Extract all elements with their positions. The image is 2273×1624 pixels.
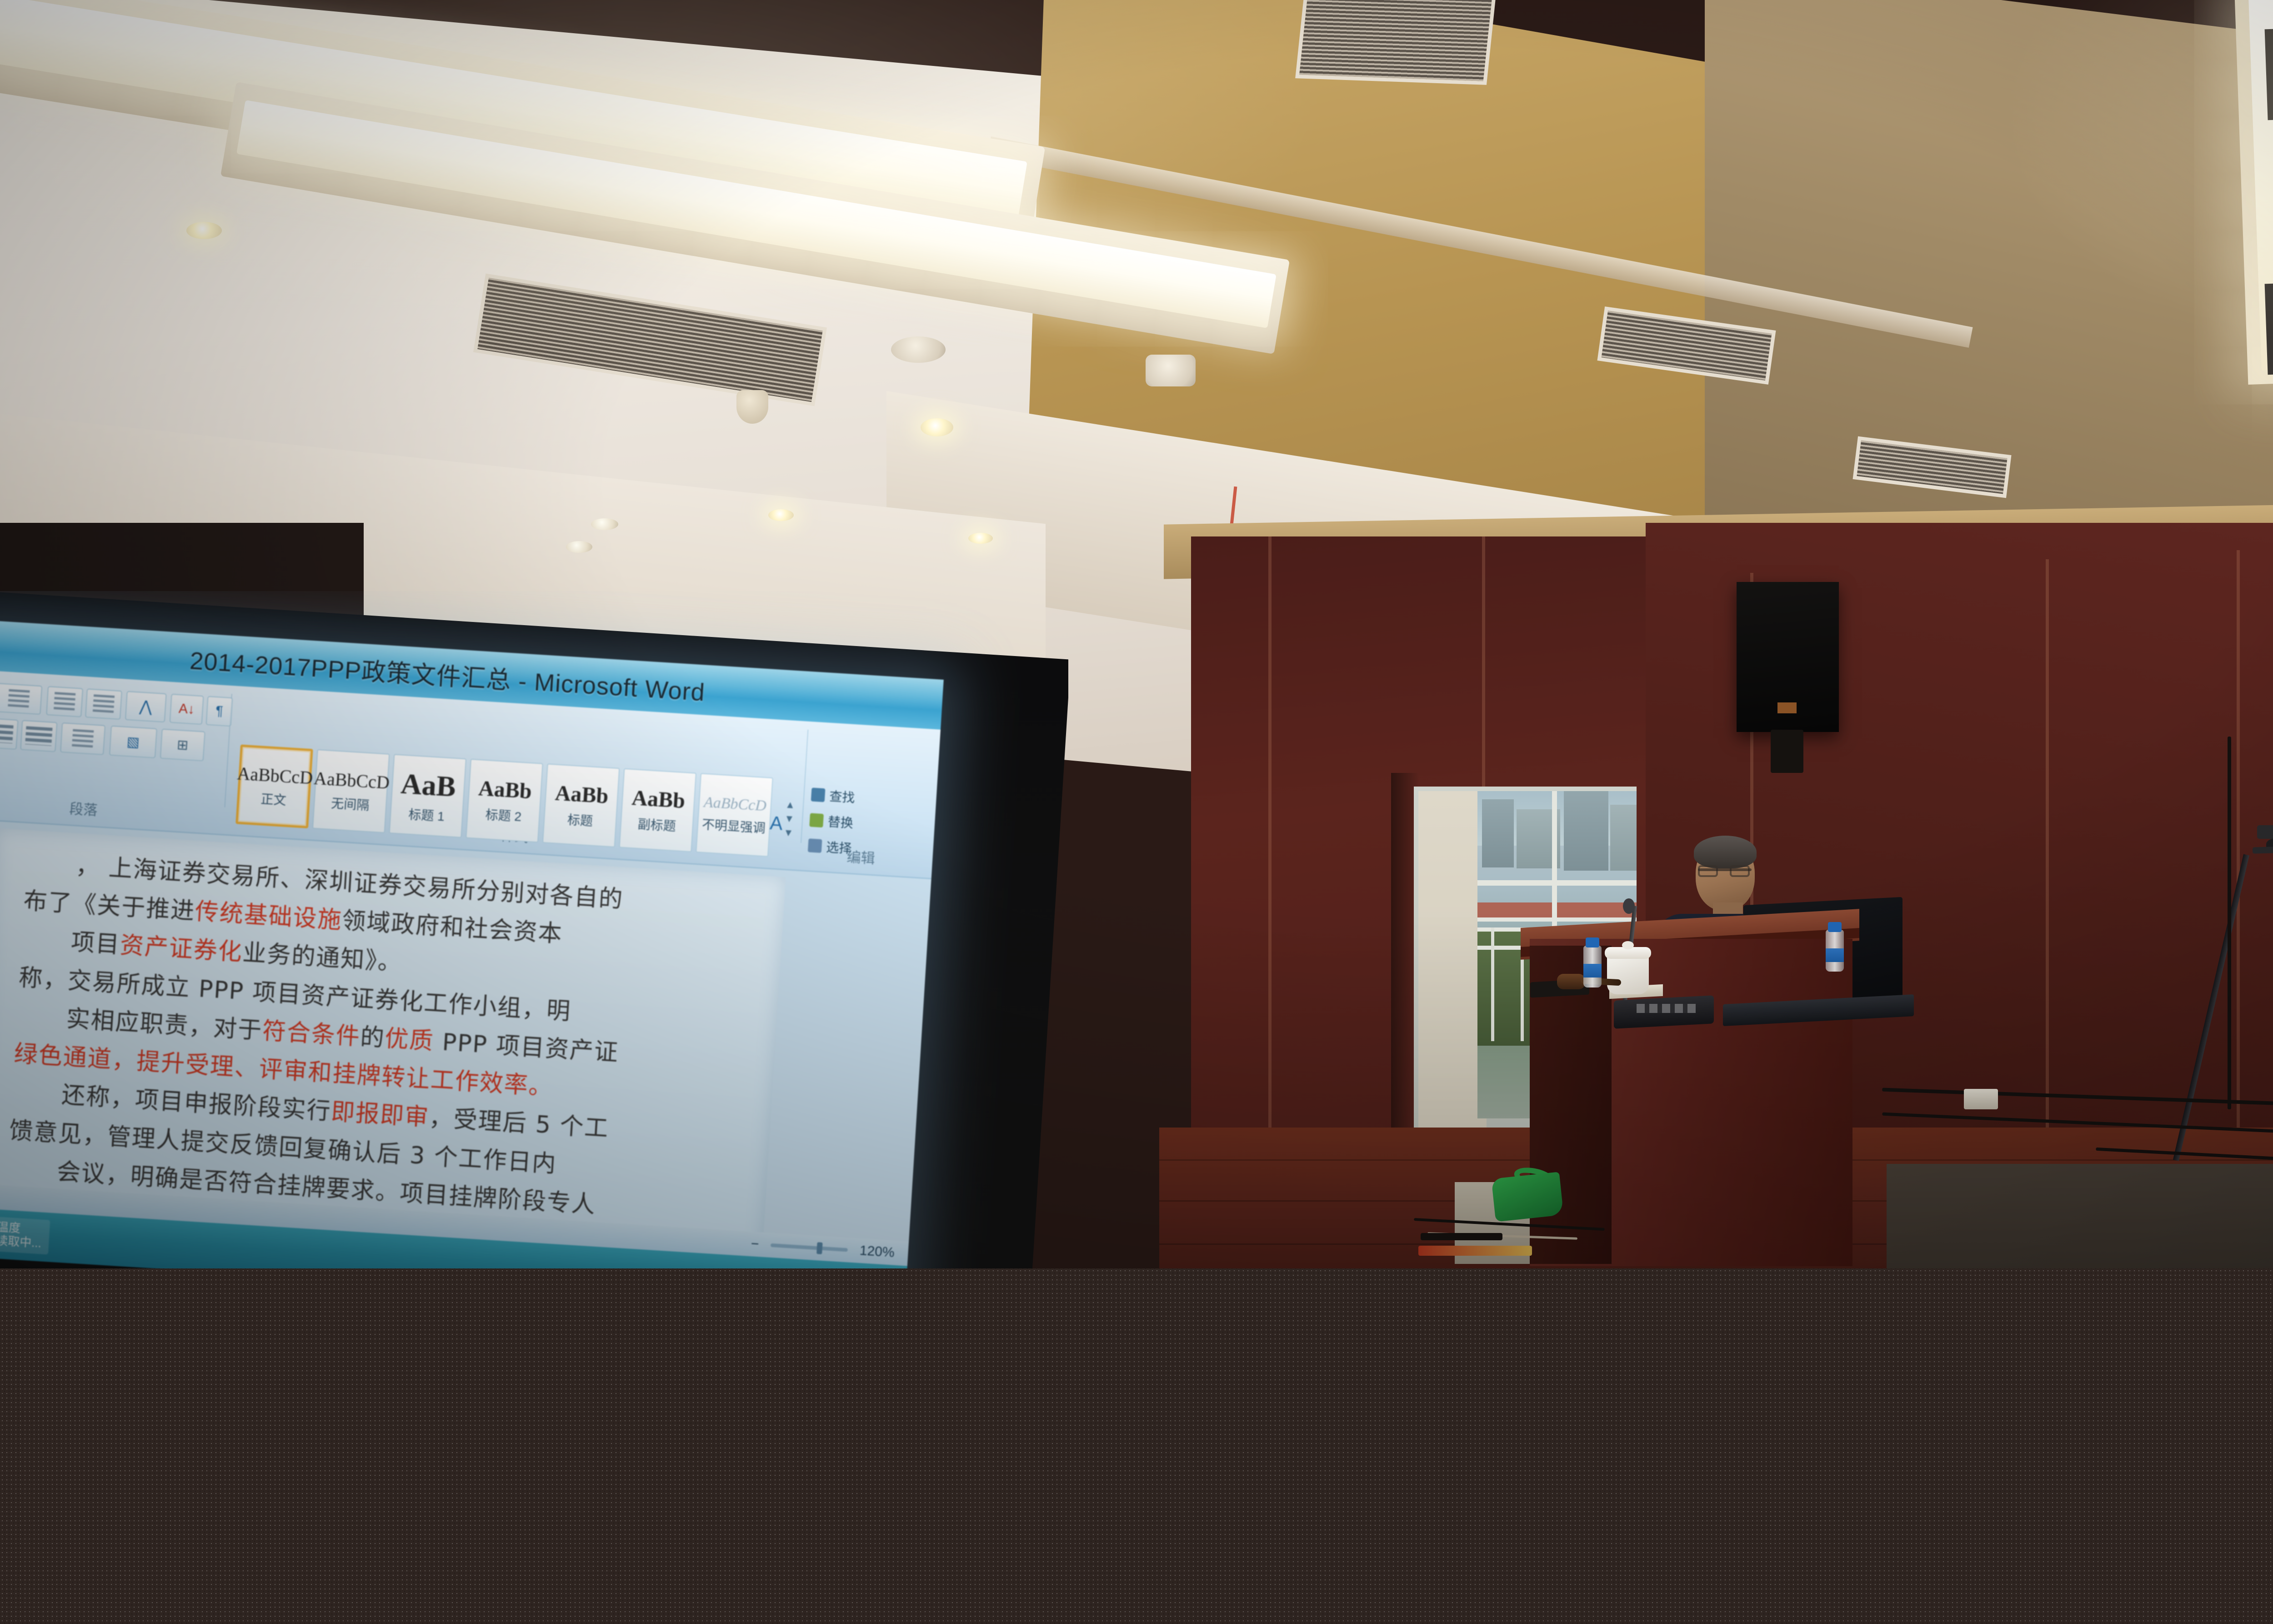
line-spacing-icon[interactable] [60, 722, 105, 755]
glasses-lens-right [1730, 865, 1750, 877]
hanging-cable [2228, 737, 2231, 1109]
speaker-mount-bracket [1771, 730, 1803, 773]
find-label: 查找 [829, 787, 855, 806]
speaker-logo-icon [1777, 702, 1797, 713]
system-tray[interactable]: 15:59 2021/8/20 [717, 1264, 896, 1268]
downlight-icon [968, 533, 993, 544]
smoke-detector-icon [1146, 355, 1196, 386]
replace-icon [809, 813, 824, 827]
projected-image: 2014-2017PPP政策文件汇总 - Microsoft Word — ❐ … [0, 618, 944, 1268]
document-text-body: ， 上海证券交易所、深圳证券交易所分别对各自的布了《关于推进传统基础设施领域政府… [6, 844, 753, 1233]
change-styles-button[interactable]: A [760, 786, 793, 861]
style-sample: AaBbCcD [703, 793, 767, 814]
style-name: 副标题 [637, 814, 676, 835]
microphone-head-icon [1623, 898, 1635, 914]
style-name: 标题 1 [408, 804, 445, 825]
style-item-subtitle[interactable]: AaBb 副标题 [619, 768, 697, 852]
style-name: 正文 [260, 789, 287, 809]
show-marks-icon[interactable]: ¶ [206, 696, 233, 727]
zoom-level: 120% [859, 1243, 895, 1261]
body-text: 项目 [70, 929, 121, 959]
word-application-window: 2014-2017PPP政策文件汇总 - Microsoft Word — ❐ … [0, 618, 944, 1268]
glasses-lens-left [1698, 865, 1718, 877]
align-center-icon[interactable] [0, 717, 18, 750]
select-label: 选择 [826, 837, 852, 857]
downlight-icon [591, 518, 618, 530]
style-sample: AaBbCcD [313, 767, 390, 793]
camera-body [2257, 825, 2273, 839]
downlight-icon [186, 222, 222, 239]
conference-room-scene: 2014-2017PPP政策文件汇总 - Microsoft Word — ❐ … [0, 0, 2273, 1268]
projection-screen: 2014-2017PPP政策文件汇总 - Microsoft Word — ❐ … [0, 591, 1068, 1268]
style-name: 不明显强调 [701, 814, 766, 837]
zoom-slider[interactable] [771, 1243, 848, 1252]
highlighted-text: 即报即审 [330, 1098, 430, 1132]
select-button[interactable]: 选择 [807, 836, 913, 861]
body-text: 布了《关于推进 [23, 887, 196, 925]
select-icon [808, 838, 822, 853]
downlight-icon [768, 509, 794, 521]
highlighted-text: 优质 [384, 1025, 435, 1055]
borders-icon[interactable]: ⊞ [160, 729, 205, 762]
bottom-letterbox [0, 1268, 2273, 1624]
style-item-heading-1[interactable]: AaB 标题 1 [389, 754, 467, 838]
style-name: 标题 [567, 810, 593, 829]
align-right-icon[interactable] [20, 720, 57, 752]
asian-layout-icon[interactable]: ⋀ [125, 691, 167, 722]
style-sample: AaBbCcD [236, 762, 313, 788]
tripod-pan-handle [2253, 846, 2273, 853]
power-outlet [1964, 1089, 1998, 1109]
style-name: 标题 2 [485, 805, 522, 825]
bottle-cap-icon [1828, 922, 1842, 932]
tea-cup-knob [1622, 941, 1634, 949]
water-bottle-label [1583, 964, 1602, 977]
increase-indent-icon[interactable] [85, 688, 122, 720]
style-sample: AaBb [631, 785, 686, 813]
ceiling-speaker-icon [891, 336, 946, 363]
body-text: PPP 项目资产证 [433, 1028, 620, 1067]
replace-label: 替换 [827, 812, 854, 832]
body-text: 实相应职责，对于 [65, 1005, 263, 1045]
floor-object [1421, 1233, 1502, 1240]
decrease-indent-icon[interactable] [46, 686, 83, 717]
downlight-icon [921, 418, 953, 436]
numbering-dropdown-icon[interactable] [0, 683, 42, 715]
body-text: 的 [360, 1023, 386, 1052]
shading-icon[interactable]: ▧ [109, 726, 157, 758]
replace-button[interactable]: 替换 [809, 811, 915, 835]
editing-commands[interactable]: 查找 替换 选择 [807, 785, 916, 868]
ribbon-group-label-paragraph: 段落 [0, 789, 224, 827]
highlighted-text: 传统基础设施 [194, 898, 343, 934]
style-item-no-spacing[interactable]: AaBbCcD 无间隔 [312, 749, 390, 833]
green-bag [1491, 1172, 1563, 1222]
body-text: 业务的通知》。 [242, 939, 403, 977]
water-bottle-label [1826, 948, 1844, 962]
style-item-body[interactable]: AaBbCcD 正文 [235, 744, 313, 828]
highlighted-text: 资产证券化 [119, 932, 243, 967]
body-text: ，受理后 5 个工 [428, 1104, 610, 1143]
taskbar-item[interactable]: 温度 读取中... [0, 1215, 50, 1254]
style-item-title[interactable]: AaBb 标题 [542, 763, 620, 847]
sprinkler-head-icon [736, 390, 768, 424]
zoom-out-button[interactable]: − [751, 1236, 760, 1252]
sort-icon[interactable]: A↓ [170, 694, 204, 725]
console-buttons [1637, 1004, 1696, 1013]
taskbar-item-label-2: 读取中... [0, 1233, 42, 1250]
bottle-cap-icon [1586, 937, 1599, 947]
style-item-heading-2[interactable]: AaBb 标题 2 [466, 759, 543, 843]
downlight-icon [566, 541, 592, 553]
taskbar-item-label-1: 温度 [0, 1220, 21, 1235]
binoculars-icon [811, 787, 826, 802]
ribbon-group-paragraph: ⋀ A↓ ¶ ▧ ⊞ 段落 [0, 677, 232, 807]
style-sample: AaB [400, 767, 457, 803]
style-sample: AaBb [554, 781, 609, 809]
style-sample: AaBb [478, 776, 533, 804]
floor-object [1418, 1246, 1532, 1256]
presenter-hair [1694, 836, 1757, 868]
style-name: 无间隔 [330, 793, 370, 814]
glasses-bridge [1698, 868, 1752, 871]
hvac-vent-icon [1295, 0, 1496, 85]
highlighted-text: 符合条件 [261, 1018, 361, 1051]
carpet-area [1887, 1164, 2273, 1268]
